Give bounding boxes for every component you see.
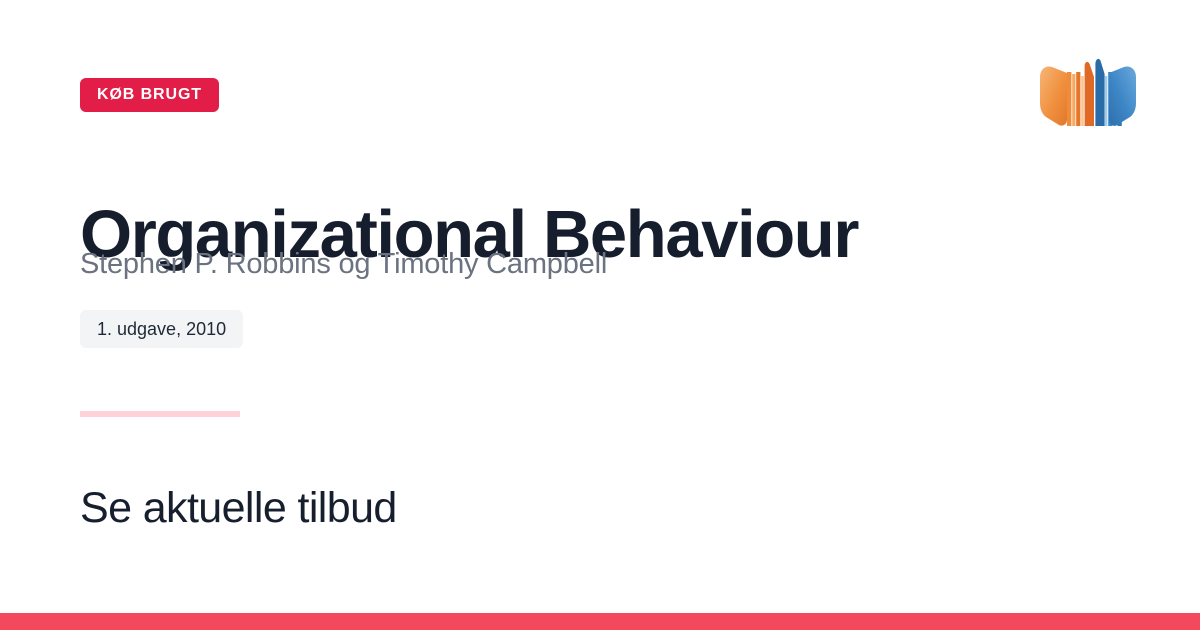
bottom-accent-bar [0,613,1200,630]
status-badge: KØB BRUGT [80,78,219,112]
logo-main-mark [1040,59,1136,126]
edition-badge-label: 1. udgave, 2010 [97,320,226,338]
og-card: KØB BRUGT [0,0,1200,630]
edition-badge: 1. udgave, 2010 [80,310,243,348]
cta-text: Se aktuelle tilbud [80,482,397,536]
status-badge-label: KØB BRUGT [97,87,202,103]
section-divider [80,411,240,417]
brand-logo [1036,50,1140,160]
authors-line: Stephen P. Robbins og Timothy Campbell [80,246,607,284]
